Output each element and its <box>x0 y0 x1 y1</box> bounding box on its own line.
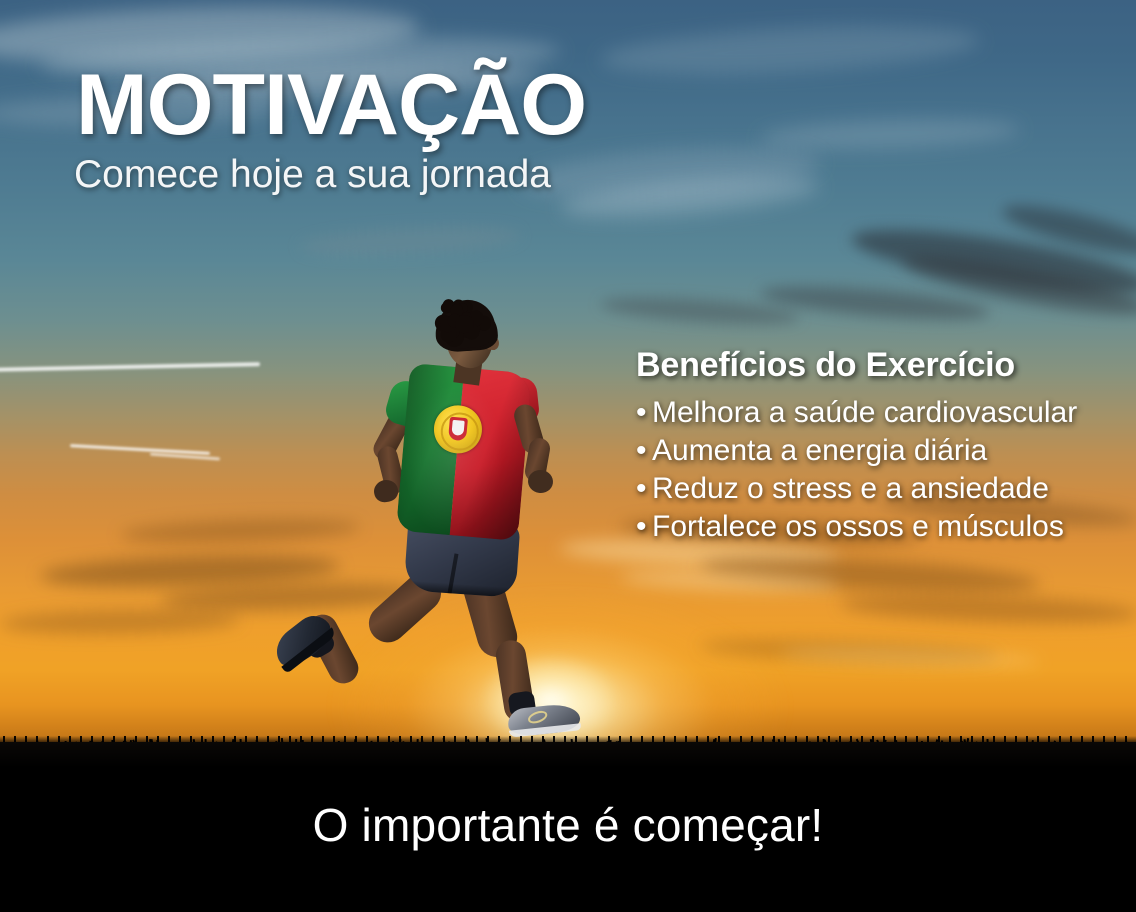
benefits-list: •Melhora a saúde cardiovascular •Aumenta… <box>636 394 1106 546</box>
jersey-shading <box>396 363 532 541</box>
bullet-icon: • <box>636 508 652 546</box>
shoe-lace <box>526 709 549 726</box>
list-item: •Aumenta a energia diária <box>636 432 1106 470</box>
list-item: •Reduz o stress e a ansiedade <box>636 470 1106 508</box>
runner-front-fist <box>527 468 555 494</box>
list-item-label: Melhora a saúde cardiovascular <box>652 396 1077 429</box>
list-item-label: Reduz o stress e a ansiedade <box>652 472 1049 505</box>
benefits-panel: Benefícios do Exercício •Melhora a saúde… <box>636 346 1106 546</box>
page-subtitle: Comece hoje a sua jornada <box>74 155 551 196</box>
list-item-label: Fortalece os ossos e músculos <box>652 510 1064 543</box>
bullet-icon: • <box>636 432 652 470</box>
list-item: •Fortalece os ossos e músculos <box>636 508 1106 546</box>
bullet-icon: • <box>636 470 652 508</box>
runner-hair <box>435 298 496 350</box>
page-title: MOTIVAÇÃO <box>76 62 586 148</box>
benefits-heading: Benefícios do Exercício <box>636 346 1106 384</box>
list-item-label: Aumenta a energia diária <box>652 434 987 467</box>
motivation-poster: MOTIVAÇÃO Comece hoje a sua jornada Bene… <box>0 0 1136 912</box>
list-item: •Melhora a saúde cardiovascular <box>636 394 1106 432</box>
bullet-icon: • <box>636 394 652 432</box>
portugal-jersey <box>396 363 532 541</box>
tagline: O importante é começar! <box>0 798 1136 852</box>
